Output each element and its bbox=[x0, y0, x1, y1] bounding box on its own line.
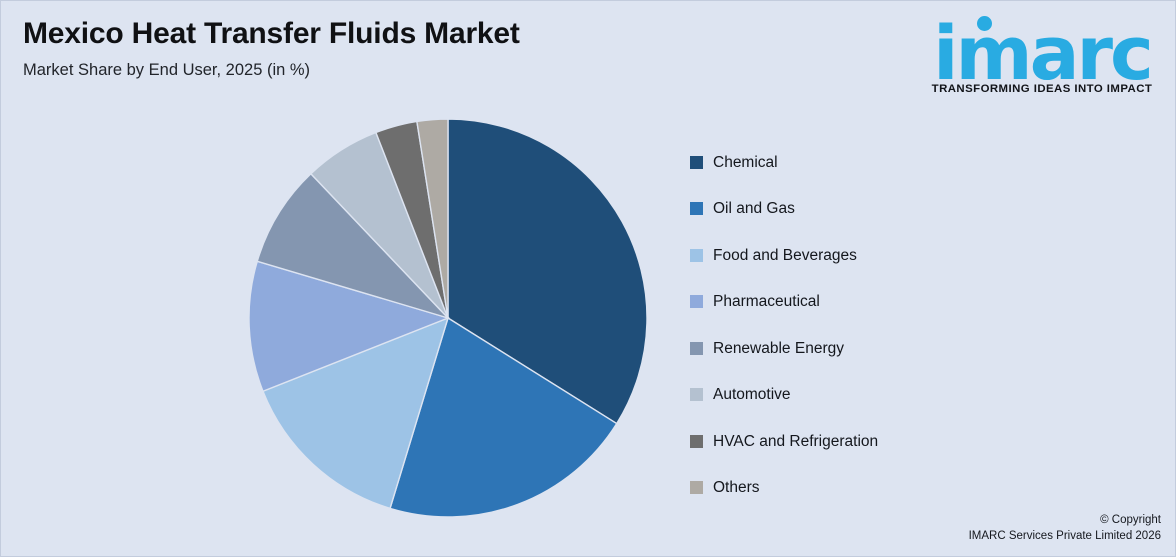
copyright-line-2: IMARC Services Private Limited 2026 bbox=[969, 528, 1161, 545]
pie-chart-svg bbox=[248, 118, 648, 518]
legend-swatch-icon bbox=[690, 295, 703, 308]
legend-swatch-icon bbox=[690, 388, 703, 401]
legend-item-pharmaceutical[interactable]: Pharmaceutical bbox=[690, 279, 1020, 326]
pie-chart bbox=[248, 118, 648, 518]
legend-label: Pharmaceutical bbox=[713, 294, 820, 310]
chart-legend: Chemical Oil and Gas Food and Beverages … bbox=[690, 139, 1020, 511]
imarc-wordmark-graphic: imarc bbox=[919, 11, 1165, 89]
legend-item-food-and-beverages[interactable]: Food and Beverages bbox=[690, 232, 1020, 279]
legend-label: Oil and Gas bbox=[713, 201, 795, 217]
legend-swatch-icon bbox=[690, 342, 703, 355]
legend-item-others[interactable]: Others bbox=[690, 465, 1020, 512]
imarc-logo: imarc TRANSFORMING IDEAS INTO IMPACT bbox=[919, 11, 1165, 111]
legend-item-renewable-energy[interactable]: Renewable Energy bbox=[690, 325, 1020, 372]
legend-swatch-icon bbox=[690, 481, 703, 494]
legend-label: HVAC and Refrigeration bbox=[713, 434, 878, 450]
imarc-wordmark-text: imarc bbox=[919, 17, 1165, 91]
legend-label: Chemical bbox=[713, 155, 778, 171]
legend-label: Others bbox=[713, 480, 760, 496]
legend-item-automotive[interactable]: Automotive bbox=[690, 372, 1020, 419]
pie-slice-group bbox=[249, 119, 647, 517]
chart-page: Mexico Heat Transfer Fluids Market Marke… bbox=[0, 0, 1176, 557]
copyright-line-1: © Copyright bbox=[969, 512, 1161, 529]
legend-label: Food and Beverages bbox=[713, 248, 857, 264]
legend-swatch-icon bbox=[690, 249, 703, 262]
copyright-notice: © Copyright IMARC Services Private Limit… bbox=[969, 512, 1161, 545]
imarc-dot-icon bbox=[977, 16, 992, 31]
legend-label: Automotive bbox=[713, 387, 791, 403]
legend-swatch-icon bbox=[690, 156, 703, 169]
legend-item-hvac-and-refrigeration[interactable]: HVAC and Refrigeration bbox=[690, 418, 1020, 465]
legend-swatch-icon bbox=[690, 435, 703, 448]
legend-label: Renewable Energy bbox=[713, 341, 844, 357]
legend-swatch-icon bbox=[690, 202, 703, 215]
chart-header: Mexico Heat Transfer Fluids Market Marke… bbox=[23, 17, 663, 80]
legend-item-chemical[interactable]: Chemical bbox=[690, 139, 1020, 186]
chart-title: Mexico Heat Transfer Fluids Market bbox=[23, 17, 663, 52]
chart-subtitle: Market Share by End User, 2025 (in %) bbox=[23, 61, 663, 81]
legend-item-oil-and-gas[interactable]: Oil and Gas bbox=[690, 186, 1020, 233]
